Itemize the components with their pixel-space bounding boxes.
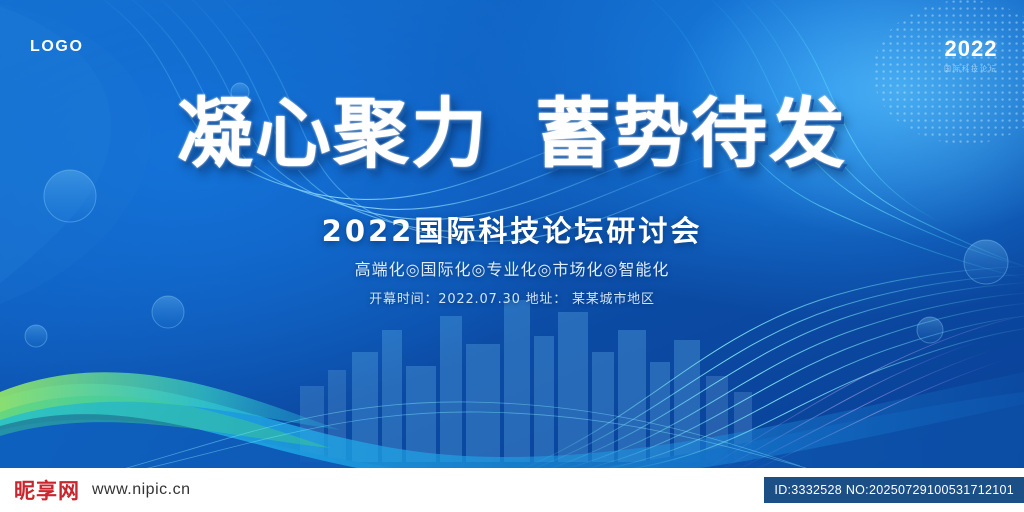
- year-number: 2022: [944, 36, 998, 62]
- event-subtitle: 2022国际科技论坛研讨会: [0, 208, 1024, 250]
- year-subcaption: 国际科技论坛: [944, 64, 998, 74]
- year-badge: 2022 国际科技论坛: [944, 36, 998, 74]
- site-url[interactable]: www.nipic.cn: [92, 481, 190, 499]
- headline-right: 蓄势待发: [535, 89, 847, 178]
- page-title: 凝心聚力蓄势待发: [0, 96, 1024, 172]
- asset-id-badge: ID:3332528 NO:20250729100531712101: [764, 477, 1024, 503]
- event-meta: 开幕时间：2022.07.30 地址： 某某城市地区: [0, 288, 1024, 307]
- headline-left: 凝心聚力: [177, 89, 489, 178]
- event-keywords: 高端化◎国际化◎专业化◎市场化◎智能化: [0, 256, 1024, 280]
- footer-bar: 昵享网 www.nipic.cn ID:3332528 NO:202507291…: [0, 468, 1024, 512]
- poster-canvas: LOGO 2022 国际科技论坛 凝心聚力蓄势待发 2022国际科技论坛研讨会 …: [0, 0, 1024, 512]
- site-logo-text: 昵享网: [14, 475, 80, 505]
- logo-placeholder: LOGO: [30, 38, 84, 56]
